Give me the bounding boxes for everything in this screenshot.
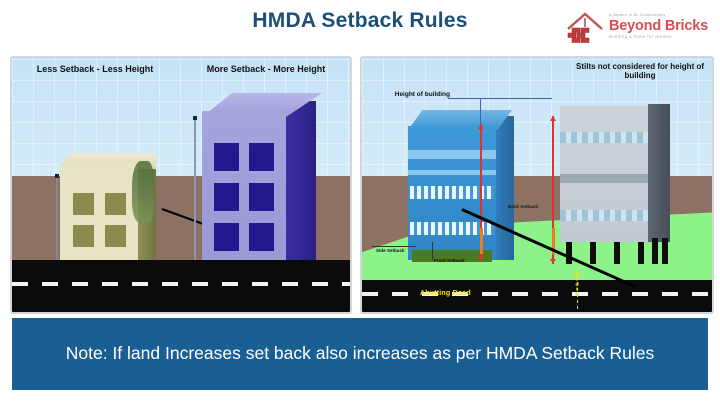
house-brick-icon (564, 7, 606, 45)
brand-logo[interactable]: A Venture of BL Constructions Beyond Bri… (564, 6, 712, 46)
blue-building (408, 110, 514, 260)
illustration-panel-right: Abutting Road Width Height (360, 56, 714, 314)
label-front-setback: Front Setback (434, 258, 465, 263)
brand-tagline-bottom: Building a home for dreams (609, 35, 708, 39)
window (249, 183, 274, 211)
label-road-width: Width (574, 272, 580, 297)
stilt-column (566, 242, 572, 264)
stilt-column (590, 242, 596, 264)
label-side-setback: Side Setback (376, 248, 405, 253)
stilt-column (638, 242, 644, 264)
window-strip (560, 210, 648, 221)
page-header: HMDA Setback Rules A Venture of BL Const… (0, 0, 720, 48)
brand-name-part2: Bricks (665, 18, 708, 34)
building-side-face (496, 116, 514, 260)
building-front-face (202, 111, 286, 260)
side-setback-line (372, 246, 416, 247)
window (214, 223, 239, 251)
window (214, 143, 239, 171)
stilt-building (560, 104, 670, 260)
building-side-face (648, 104, 670, 242)
label-stilts-not-considered: Stilts not considered for height of buil… (574, 62, 706, 81)
note-text: Note: If land Increases set back also in… (66, 342, 654, 366)
window (249, 223, 274, 251)
label-abutting-road: Abutting Road (420, 290, 471, 297)
leader-tick (480, 98, 481, 124)
stilt-column (614, 242, 620, 264)
building-front-face (560, 106, 648, 242)
leader-line (448, 98, 552, 99)
tree-foliage (132, 161, 154, 223)
label-back-setback: Back Setback (508, 204, 538, 209)
short-beige-building (60, 153, 156, 260)
stilt-column (662, 238, 668, 264)
boundary-pole (56, 178, 58, 260)
floor-band (408, 150, 496, 159)
label-less-setback-less-height: Less Setback - Less Height (20, 64, 170, 75)
window (249, 143, 274, 171)
building-front-face (60, 163, 138, 260)
brand-name: Beyond Bricks (609, 19, 708, 34)
window (105, 193, 126, 215)
road-strip (12, 260, 350, 312)
window (73, 193, 94, 215)
road-lane-dashes (12, 282, 350, 286)
brand-name-part1: Beyond (609, 18, 661, 34)
boundary-pole (194, 120, 196, 260)
window (73, 225, 94, 247)
front-setback-line (432, 242, 433, 260)
label-more-setback-more-height: More Setback - More Height (188, 64, 344, 75)
illustration-panel-left: Less Setback - Less Height More Setback … (10, 56, 352, 314)
window-strip (560, 132, 648, 143)
tall-purple-building (202, 93, 324, 260)
building-side-face (286, 101, 316, 260)
floor-band (408, 170, 496, 175)
brand-text: A Venture of BL Constructions Beyond Bri… (609, 12, 708, 39)
setback-arrow (480, 228, 483, 254)
window (214, 183, 239, 211)
window (105, 225, 126, 247)
note-banner: Note: If land Increases set back also in… (12, 318, 708, 390)
abutting-road (362, 280, 712, 312)
stilt-column (652, 238, 658, 264)
road-lane-dashes (362, 292, 712, 296)
window-strip (560, 174, 648, 183)
label-height-of-building: Height of building (366, 91, 450, 99)
